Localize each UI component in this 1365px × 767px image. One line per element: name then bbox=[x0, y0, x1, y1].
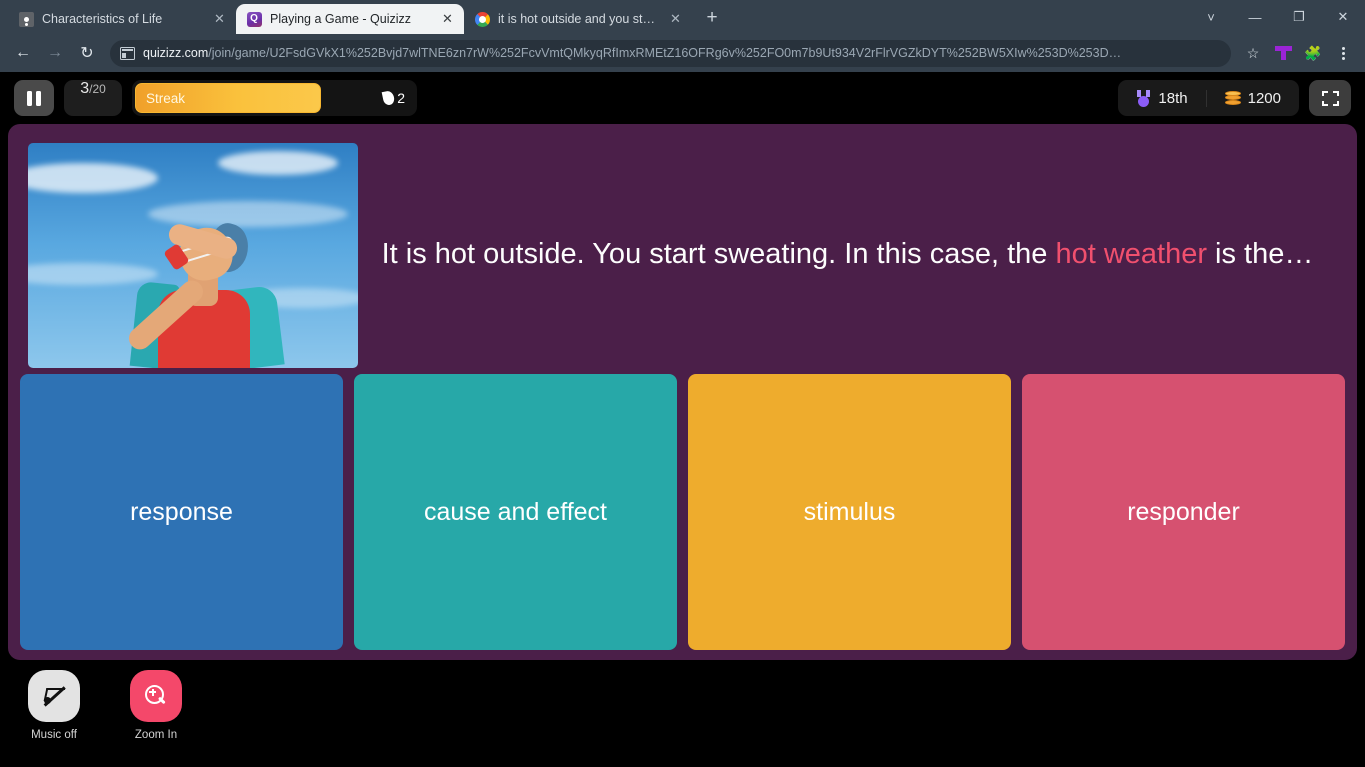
fullscreen-button[interactable] bbox=[1309, 80, 1351, 116]
music-toggle-button[interactable]: Music off bbox=[18, 670, 90, 741]
answer-option-1[interactable]: response bbox=[20, 374, 343, 650]
music-off-icon bbox=[42, 685, 66, 707]
pause-button[interactable] bbox=[14, 80, 54, 116]
browser-tab-3[interactable]: it is hot outside and you start to ✕ bbox=[464, 4, 692, 34]
zoom-button-surface bbox=[130, 670, 182, 722]
question-current: 3 bbox=[80, 80, 89, 98]
score-stat: 1200 bbox=[1206, 90, 1299, 107]
music-button-label: Music off bbox=[31, 729, 77, 741]
answer-option-4[interactable]: responder bbox=[1022, 374, 1345, 650]
question-total: /20 bbox=[89, 82, 106, 96]
tab-title: it is hot outside and you start to bbox=[498, 12, 659, 26]
url-path: /join/game/U2FsdGVkX1%252Bvjd7wlTNE6zn7r… bbox=[208, 46, 1121, 60]
tab-strip: Characteristics of Life ✕ Q Playing a Ga… bbox=[0, 0, 1365, 34]
tab-title: Characteristics of Life bbox=[42, 12, 203, 26]
rank-value: 18th bbox=[1158, 90, 1187, 107]
question-text-after: is the… bbox=[1207, 238, 1313, 270]
site-info-icon[interactable] bbox=[120, 47, 135, 60]
tab-close-icon[interactable]: ✕ bbox=[439, 11, 456, 28]
fullscreen-icon bbox=[1322, 91, 1339, 106]
question-highlight: hot weather bbox=[1055, 238, 1207, 270]
zoom-in-button[interactable]: Zoom In bbox=[120, 670, 192, 741]
back-icon[interactable]: ← bbox=[8, 38, 38, 68]
address-bar[interactable]: quizizz.com/join/game/U2FsdGVkX1%252Bvjd… bbox=[110, 40, 1231, 67]
streak-fill-bar: Streak bbox=[135, 83, 321, 113]
question-panel: It is hot outside. You start sweating. I… bbox=[8, 124, 1357, 660]
hud-right-group: 18th 1200 bbox=[1118, 80, 1351, 116]
answer-options: response cause and effect stimulus respo… bbox=[8, 369, 1357, 660]
maximize-icon[interactable]: ❐ bbox=[1277, 0, 1321, 34]
player-stats: 18th 1200 bbox=[1118, 80, 1299, 116]
new-tab-button[interactable]: + bbox=[698, 4, 726, 32]
game-hud: 3 /20 Streak 2 18th 1200 bbox=[0, 72, 1365, 124]
zoom-in-icon bbox=[144, 684, 168, 708]
answer-label: responder bbox=[1127, 498, 1240, 527]
zoom-button-label: Zoom In bbox=[135, 729, 177, 741]
quizizz-icon: Q bbox=[246, 11, 262, 27]
browser-chrome: Characteristics of Life ✕ Q Playing a Ga… bbox=[0, 0, 1365, 72]
window-controls: ˅ — ❐ ✕ bbox=[1189, 0, 1365, 34]
streak-meter: Streak 2 bbox=[132, 80, 417, 116]
question-text: It is hot outside. You start sweating. I… bbox=[358, 234, 1337, 275]
minimize-icon[interactable]: — bbox=[1233, 0, 1277, 34]
answer-option-2[interactable]: cause and effect bbox=[354, 374, 677, 650]
streak-count: 2 bbox=[397, 90, 405, 106]
music-button-surface bbox=[28, 670, 80, 722]
star-icon[interactable]: ☆ bbox=[1239, 39, 1267, 67]
browser-tab-1[interactable]: Characteristics of Life ✕ bbox=[8, 4, 236, 34]
quizizz-game: 3 /20 Streak 2 18th 1200 bbox=[0, 72, 1365, 767]
close-window-icon[interactable]: ✕ bbox=[1321, 0, 1365, 34]
google-icon bbox=[474, 11, 490, 27]
address-bar-url: quizizz.com/join/game/U2FsdGVkX1%252Bvjd… bbox=[143, 46, 1121, 60]
rank-stat: 18th bbox=[1118, 90, 1205, 107]
answer-option-3[interactable]: stimulus bbox=[688, 374, 1011, 650]
browser-tab-2[interactable]: Q Playing a Game - Quizizz ✕ bbox=[236, 4, 464, 34]
browser-toolbar: ← → ↻ quizizz.com/join/game/U2FsdGVkX1%2… bbox=[0, 34, 1365, 72]
reload-icon[interactable]: ↻ bbox=[72, 38, 102, 68]
answer-label: response bbox=[130, 498, 233, 527]
tab-close-icon[interactable]: ✕ bbox=[211, 11, 228, 28]
answer-label: cause and effect bbox=[424, 498, 607, 527]
streak-label: Streak bbox=[146, 91, 185, 106]
coins-icon bbox=[1225, 91, 1241, 106]
question-counter: 3 /20 bbox=[64, 80, 122, 116]
url-domain: quizizz.com bbox=[143, 46, 208, 60]
generic-page-icon bbox=[18, 11, 34, 27]
flame-icon bbox=[382, 90, 396, 106]
person-illustration bbox=[106, 193, 296, 368]
tab-title: Playing a Game - Quizizz bbox=[270, 12, 431, 26]
puzzle-icon[interactable]: 🧩 bbox=[1299, 39, 1327, 67]
score-value: 1200 bbox=[1248, 90, 1281, 107]
kebab-menu-icon[interactable] bbox=[1329, 39, 1357, 67]
answer-label: stimulus bbox=[804, 498, 896, 527]
medal-icon bbox=[1136, 90, 1151, 107]
bottom-toolbar: Music off Zoom In bbox=[0, 660, 1365, 755]
forward-icon[interactable]: → bbox=[40, 38, 70, 68]
extension-purple-icon[interactable] bbox=[1269, 39, 1297, 67]
question-text-before: It is hot outside. You start sweating. I… bbox=[382, 238, 1056, 270]
streak-count-group: 2 bbox=[383, 90, 405, 106]
question-image bbox=[28, 143, 358, 368]
tab-search-icon[interactable]: ˅ bbox=[1189, 0, 1233, 34]
tab-close-icon[interactable]: ✕ bbox=[667, 11, 684, 28]
question-row: It is hot outside. You start sweating. I… bbox=[8, 124, 1357, 369]
